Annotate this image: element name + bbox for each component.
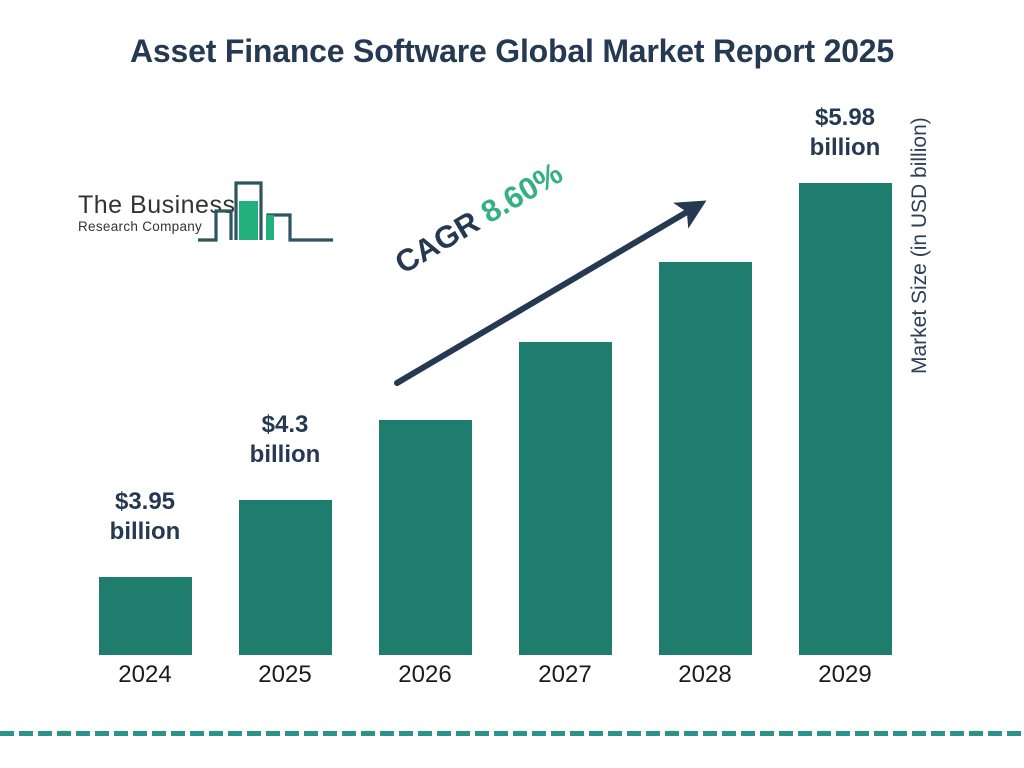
bar-chart-plot: $3.95 billion $4.3 billion $5.98 billion… <box>0 0 1024 768</box>
xtick-2029: 2029 <box>785 660 905 690</box>
y-axis-label: Market Size (in USD billion) <box>908 44 948 374</box>
bar-2024[interactable] <box>99 577 192 655</box>
bar-value-unit-2029: billion <box>785 133 905 163</box>
xtick-2025: 2025 <box>225 660 345 690</box>
chart-page: Asset Finance Software Global Market Rep… <box>0 0 1024 768</box>
bar-value-amount-2025: $4.3 <box>225 410 345 440</box>
growth-arrow-icon <box>380 185 720 405</box>
xtick-2027: 2027 <box>505 660 625 690</box>
xtick-2028: 2028 <box>645 660 765 690</box>
bar-value-label-2024: $3.95 billion <box>85 487 205 547</box>
bar-2026[interactable] <box>379 420 472 655</box>
xtick-2026: 2026 <box>365 660 485 690</box>
bar-value-label-2025: $4.3 billion <box>225 410 345 470</box>
bar-2029[interactable] <box>799 183 892 655</box>
bar-value-amount-2024: $3.95 <box>85 487 205 517</box>
xtick-2024: 2024 <box>85 660 205 690</box>
bar-value-label-2029: $5.98 billion <box>785 103 905 163</box>
footer-divider <box>0 731 1024 736</box>
bar-2025[interactable] <box>239 500 332 655</box>
bar-value-amount-2029: $5.98 <box>785 103 905 133</box>
bar-value-unit-2024: billion <box>85 517 205 547</box>
bar-value-unit-2025: billion <box>225 440 345 470</box>
